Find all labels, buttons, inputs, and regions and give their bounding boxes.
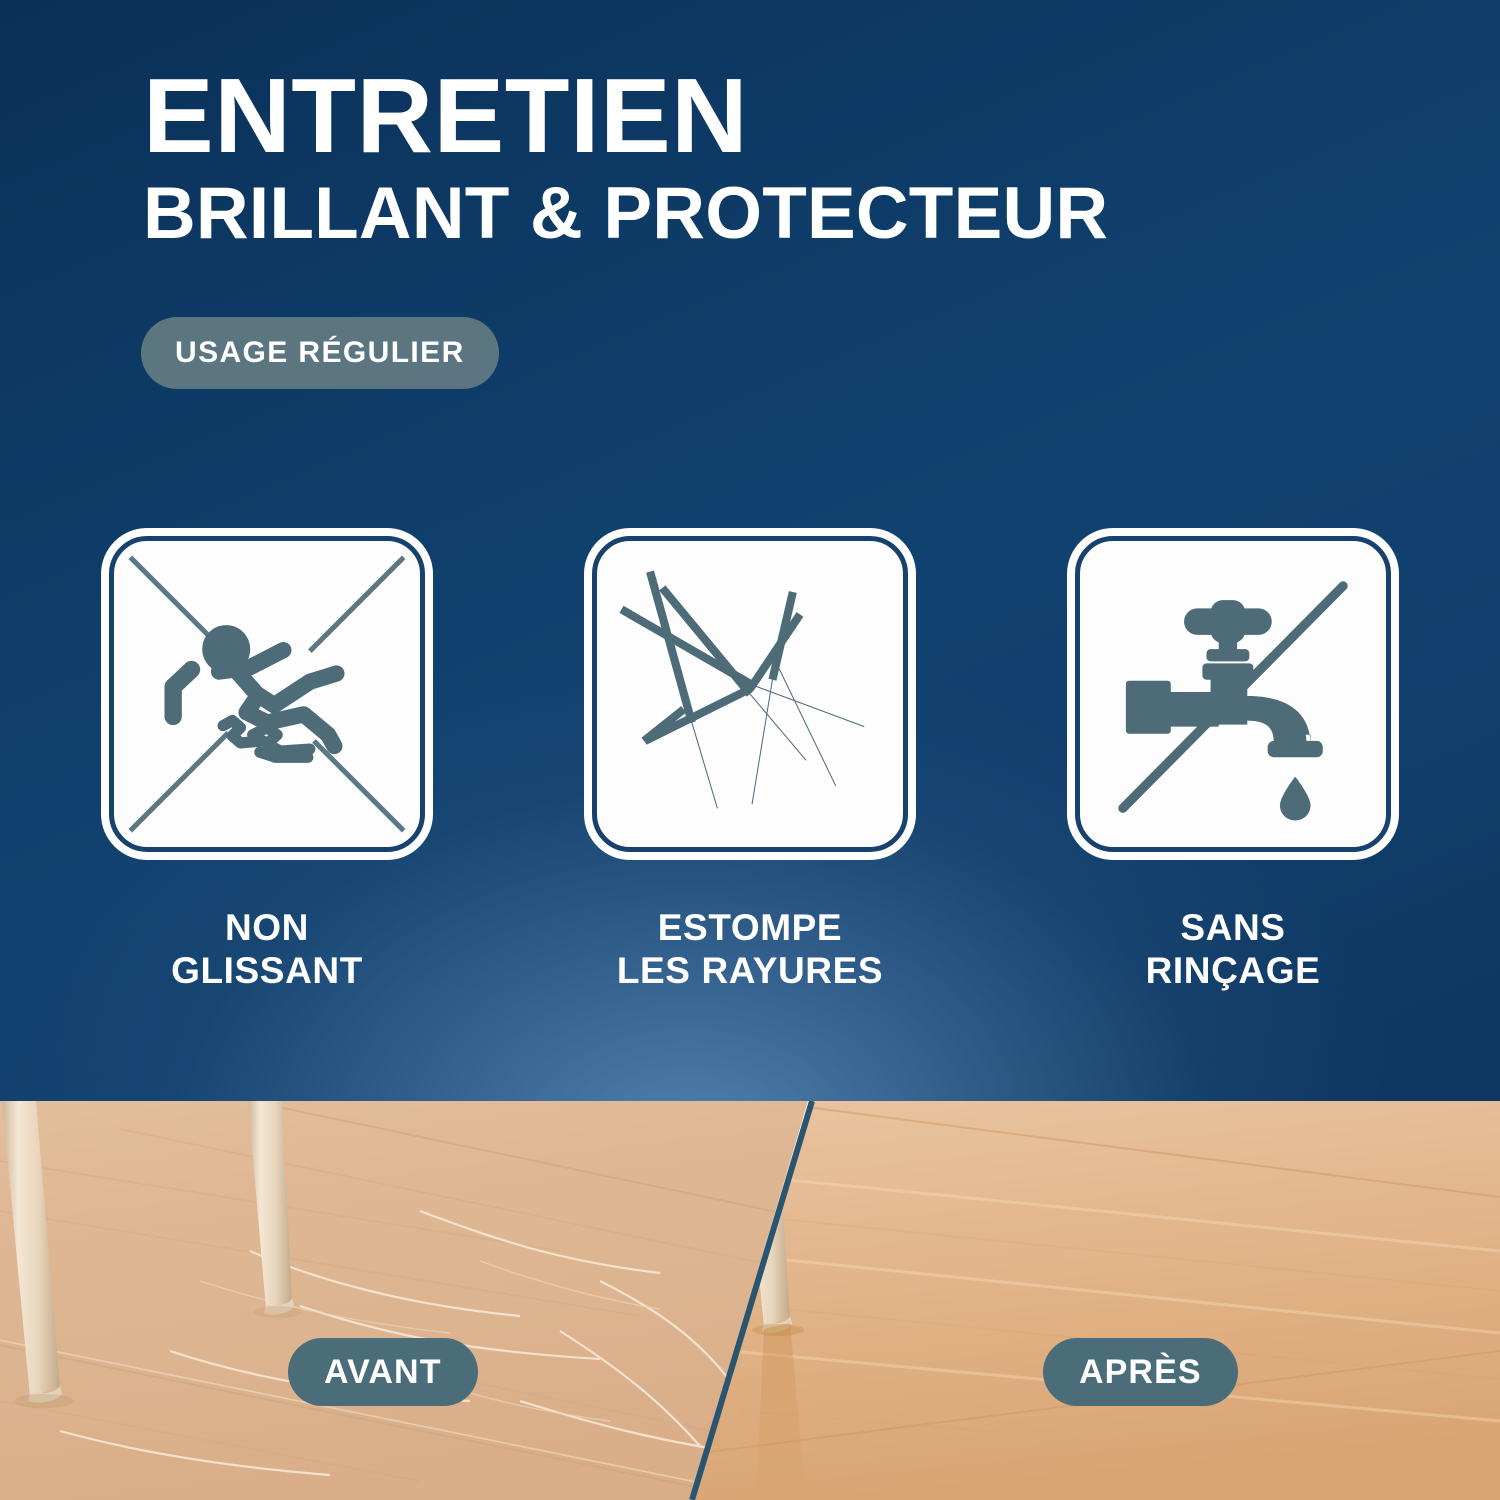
before-badge: AVANT xyxy=(288,1338,478,1406)
product-feature-poster: ENTRETIEN BRILLANT & PROTECTEUR USAGE RÉ… xyxy=(0,0,1500,1500)
icon-card-no-rinse xyxy=(1067,528,1399,860)
feature-non-slip: NON GLISSANT xyxy=(101,528,433,993)
feature-label-no-rinse: SANS RINÇAGE xyxy=(1146,906,1321,993)
non-slip-icon xyxy=(109,536,425,852)
icon-card-non-slip xyxy=(101,528,433,860)
headline-secondary: BRILLANT & PROTECTEUR xyxy=(143,177,1373,250)
feature-no-rinse: SANS RINÇAGE xyxy=(1067,528,1399,993)
headline-primary: ENTRETIEN xyxy=(143,63,1373,169)
scratch-fade-icon xyxy=(592,536,908,852)
feature-label-scratch-fade: ESTOMPE LES RAYURES xyxy=(617,906,883,993)
feature-scratch-fade: ESTOMPE LES RAYURES xyxy=(584,528,916,993)
before-after-photo xyxy=(0,1101,1500,1500)
icon-card-scratch-fade xyxy=(584,528,916,860)
usage-badge: USAGE RÉGULIER xyxy=(141,317,499,389)
feature-label-non-slip: NON GLISSANT xyxy=(171,906,363,993)
feature-row: NON GLISSANT xyxy=(0,528,1500,993)
hero-blue-panel: ENTRETIEN BRILLANT & PROTECTEUR USAGE RÉ… xyxy=(0,0,1500,1101)
no-rinse-faucet-icon xyxy=(1075,536,1391,852)
headline-block: ENTRETIEN BRILLANT & PROTECTEUR xyxy=(143,63,1373,250)
after-badge: APRÈS xyxy=(1043,1338,1238,1406)
